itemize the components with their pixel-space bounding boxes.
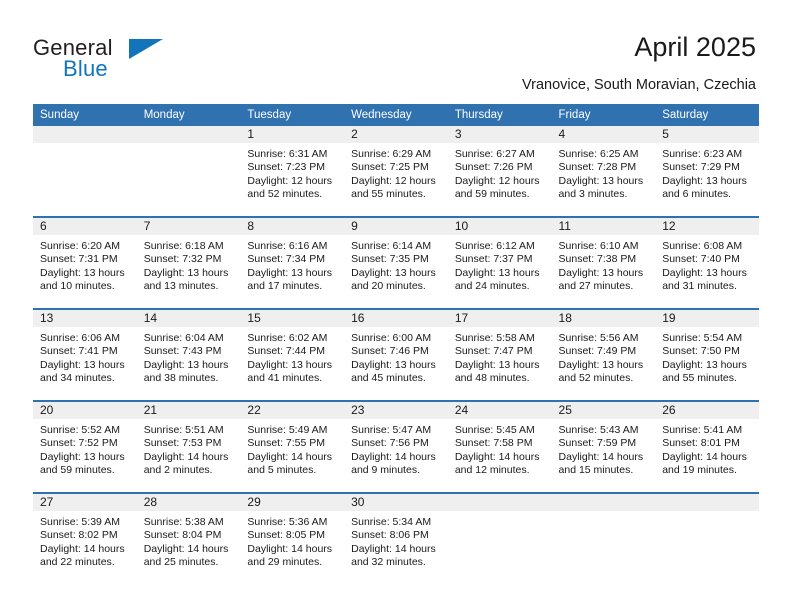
- day-detail-line: Sunset: 7:41 PM: [40, 345, 131, 358]
- day-detail-line: Sunrise: 6:31 AM: [247, 148, 338, 161]
- day-detail-text: [552, 511, 656, 516]
- day-number: 7: [137, 218, 241, 235]
- day-number: 2: [344, 126, 448, 143]
- calendar-day-cell[interactable]: 20Sunrise: 5:52 AMSunset: 7:52 PMDayligh…: [33, 401, 137, 493]
- day-detail-line: Sunrise: 6:18 AM: [144, 240, 235, 253]
- day-detail-line: Daylight: 13 hours: [559, 267, 650, 280]
- calendar-table: Sunday Monday Tuesday Wednesday Thursday…: [33, 104, 759, 584]
- day-detail-line: and 52 minutes.: [559, 372, 650, 385]
- day-detail-line: Sunrise: 5:47 AM: [351, 424, 442, 437]
- day-detail-line: Sunset: 7:26 PM: [455, 161, 546, 174]
- day-detail-text: Sunrise: 5:38 AMSunset: 8:04 PMDaylight:…: [137, 511, 241, 570]
- calendar-day-cell[interactable]: 18Sunrise: 5:56 AMSunset: 7:49 PMDayligh…: [552, 309, 656, 401]
- day-number: 5: [655, 126, 759, 143]
- calendar-day-cell[interactable]: 8Sunrise: 6:16 AMSunset: 7:34 PMDaylight…: [240, 217, 344, 309]
- day-detail-line: Daylight: 13 hours: [351, 359, 442, 372]
- day-detail-text: Sunrise: 5:36 AMSunset: 8:05 PMDaylight:…: [240, 511, 344, 570]
- calendar-day-cell[interactable]: 10Sunrise: 6:12 AMSunset: 7:37 PMDayligh…: [448, 217, 552, 309]
- day-detail-line: Daylight: 13 hours: [559, 359, 650, 372]
- day-detail-line: Daylight: 13 hours: [559, 175, 650, 188]
- logo-text-blue: Blue: [63, 56, 108, 82]
- calendar-day-cell[interactable]: 14Sunrise: 6:04 AMSunset: 7:43 PMDayligh…: [137, 309, 241, 401]
- day-detail-line: Daylight: 13 hours: [455, 267, 546, 280]
- day-detail-line: Sunrise: 6:29 AM: [351, 148, 442, 161]
- day-detail-line: Sunrise: 6:08 AM: [662, 240, 753, 253]
- day-detail-line: Daylight: 12 hours: [455, 175, 546, 188]
- dow-header-friday: Friday: [552, 104, 656, 126]
- day-detail-line: and 12 minutes.: [455, 464, 546, 477]
- day-number: 20: [33, 402, 137, 419]
- day-detail-line: and 48 minutes.: [455, 372, 546, 385]
- day-detail-line: Sunset: 7:23 PM: [247, 161, 338, 174]
- calendar-day-cell-empty: [655, 493, 759, 584]
- day-detail-line: Daylight: 12 hours: [247, 175, 338, 188]
- calendar-day-cell[interactable]: 12Sunrise: 6:08 AMSunset: 7:40 PMDayligh…: [655, 217, 759, 309]
- day-detail-line: and 31 minutes.: [662, 280, 753, 293]
- day-detail-line: Daylight: 14 hours: [351, 543, 442, 556]
- day-detail-line: Daylight: 14 hours: [559, 451, 650, 464]
- day-detail-text: Sunrise: 5:39 AMSunset: 8:02 PMDaylight:…: [33, 511, 137, 570]
- day-detail-line: Sunrise: 5:41 AM: [662, 424, 753, 437]
- day-detail-line: Sunset: 7:28 PM: [559, 161, 650, 174]
- calendar-day-cell[interactable]: 3Sunrise: 6:27 AMSunset: 7:26 PMDaylight…: [448, 126, 552, 217]
- day-detail-text: Sunrise: 5:58 AMSunset: 7:47 PMDaylight:…: [448, 327, 552, 386]
- day-detail-text: [137, 143, 241, 148]
- day-detail-line: Sunrise: 6:04 AM: [144, 332, 235, 345]
- calendar-grid: Sunday Monday Tuesday Wednesday Thursday…: [33, 104, 759, 584]
- day-detail-line: Sunset: 7:58 PM: [455, 437, 546, 450]
- calendar-day-cell[interactable]: 6Sunrise: 6:20 AMSunset: 7:31 PMDaylight…: [33, 217, 137, 309]
- calendar-body: 1Sunrise: 6:31 AMSunset: 7:23 PMDaylight…: [33, 126, 759, 584]
- day-detail-line: Sunrise: 6:16 AM: [247, 240, 338, 253]
- day-number: [552, 494, 656, 511]
- day-detail-line: Sunrise: 5:52 AM: [40, 424, 131, 437]
- day-detail-line: Sunrise: 6:20 AM: [40, 240, 131, 253]
- day-detail-text: Sunrise: 6:08 AMSunset: 7:40 PMDaylight:…: [655, 235, 759, 294]
- day-detail-line: and 32 minutes.: [351, 556, 442, 569]
- day-detail-text: [655, 511, 759, 516]
- day-detail-text: Sunrise: 6:06 AMSunset: 7:41 PMDaylight:…: [33, 327, 137, 386]
- dow-header-sunday: Sunday: [33, 104, 137, 126]
- day-number: 14: [137, 310, 241, 327]
- day-detail-text: Sunrise: 6:14 AMSunset: 7:35 PMDaylight:…: [344, 235, 448, 294]
- day-detail-line: Daylight: 13 hours: [144, 267, 235, 280]
- calendar-page: General Blue April 2025 Vranovice, South…: [0, 0, 792, 612]
- page-header: General Blue April 2025 Vranovice, South…: [0, 0, 792, 100]
- calendar-week-row: 6Sunrise: 6:20 AMSunset: 7:31 PMDaylight…: [33, 217, 759, 309]
- day-detail-line: Sunset: 7:55 PM: [247, 437, 338, 450]
- calendar-day-cell[interactable]: 28Sunrise: 5:38 AMSunset: 8:04 PMDayligh…: [137, 493, 241, 584]
- day-detail-line: Sunset: 7:44 PM: [247, 345, 338, 358]
- calendar-day-cell[interactable]: 22Sunrise: 5:49 AMSunset: 7:55 PMDayligh…: [240, 401, 344, 493]
- day-number: 18: [552, 310, 656, 327]
- day-detail-line: Sunrise: 6:00 AM: [351, 332, 442, 345]
- day-detail-text: Sunrise: 5:54 AMSunset: 7:50 PMDaylight:…: [655, 327, 759, 386]
- calendar-day-cell[interactable]: 17Sunrise: 5:58 AMSunset: 7:47 PMDayligh…: [448, 309, 552, 401]
- day-number: 17: [448, 310, 552, 327]
- day-detail-line: and 5 minutes.: [247, 464, 338, 477]
- day-detail-line: Sunrise: 5:49 AM: [247, 424, 338, 437]
- day-detail-line: Sunset: 7:32 PM: [144, 253, 235, 266]
- day-detail-text: Sunrise: 5:41 AMSunset: 8:01 PMDaylight:…: [655, 419, 759, 478]
- day-detail-text: Sunrise: 5:49 AMSunset: 7:55 PMDaylight:…: [240, 419, 344, 478]
- day-detail-line: and 2 minutes.: [144, 464, 235, 477]
- day-detail-line: and 20 minutes.: [351, 280, 442, 293]
- day-detail-text: Sunrise: 6:20 AMSunset: 7:31 PMDaylight:…: [33, 235, 137, 294]
- day-detail-line: Sunrise: 6:25 AM: [559, 148, 650, 161]
- day-detail-line: Daylight: 13 hours: [247, 267, 338, 280]
- day-detail-text: [33, 143, 137, 148]
- day-detail-line: Sunset: 7:49 PM: [559, 345, 650, 358]
- day-number: 12: [655, 218, 759, 235]
- day-detail-line: Sunset: 7:46 PM: [351, 345, 442, 358]
- day-detail-line: Daylight: 13 hours: [247, 359, 338, 372]
- day-detail-line: Sunset: 7:59 PM: [559, 437, 650, 450]
- day-number: 4: [552, 126, 656, 143]
- day-detail-line: Sunset: 7:53 PM: [144, 437, 235, 450]
- page-title: April 2025: [634, 32, 756, 63]
- day-detail-text: [448, 511, 552, 516]
- calendar-day-cell[interactable]: 5Sunrise: 6:23 AMSunset: 7:29 PMDaylight…: [655, 126, 759, 217]
- day-number: 9: [344, 218, 448, 235]
- day-detail-line: Sunset: 7:25 PM: [351, 161, 442, 174]
- day-detail-line: Sunrise: 5:58 AM: [455, 332, 546, 345]
- day-detail-line: Sunset: 8:05 PM: [247, 529, 338, 542]
- calendar-day-cell[interactable]: 24Sunrise: 5:45 AMSunset: 7:58 PMDayligh…: [448, 401, 552, 493]
- calendar-day-cell[interactable]: 19Sunrise: 5:54 AMSunset: 7:50 PMDayligh…: [655, 309, 759, 401]
- day-detail-line: and 9 minutes.: [351, 464, 442, 477]
- dow-header-wednesday: Wednesday: [344, 104, 448, 126]
- day-detail-line: and 24 minutes.: [455, 280, 546, 293]
- general-blue-logo[interactable]: General Blue: [33, 35, 213, 83]
- day-number: 13: [33, 310, 137, 327]
- day-number: [33, 126, 137, 143]
- day-number: [448, 494, 552, 511]
- day-detail-text: Sunrise: 6:00 AMSunset: 7:46 PMDaylight:…: [344, 327, 448, 386]
- day-detail-line: Sunrise: 5:43 AM: [559, 424, 650, 437]
- day-detail-line: and 59 minutes.: [455, 188, 546, 201]
- day-number: 16: [344, 310, 448, 327]
- day-detail-line: Sunrise: 5:45 AM: [455, 424, 546, 437]
- calendar-day-cell[interactable]: 23Sunrise: 5:47 AMSunset: 7:56 PMDayligh…: [344, 401, 448, 493]
- triangle-flag-icon: [129, 39, 163, 59]
- day-number: 27: [33, 494, 137, 511]
- dow-header-thursday: Thursday: [448, 104, 552, 126]
- day-detail-line: Sunset: 8:01 PM: [662, 437, 753, 450]
- day-number: 25: [552, 402, 656, 419]
- day-detail-text: Sunrise: 6:23 AMSunset: 7:29 PMDaylight:…: [655, 143, 759, 202]
- day-detail-line: and 55 minutes.: [351, 188, 442, 201]
- day-number: 10: [448, 218, 552, 235]
- day-detail-line: Sunrise: 6:02 AM: [247, 332, 338, 345]
- day-detail-line: Sunrise: 6:06 AM: [40, 332, 131, 345]
- day-detail-line: Daylight: 13 hours: [40, 359, 131, 372]
- calendar-day-cell[interactable]: 30Sunrise: 5:34 AMSunset: 8:06 PMDayligh…: [344, 493, 448, 584]
- day-detail-text: Sunrise: 6:10 AMSunset: 7:38 PMDaylight:…: [552, 235, 656, 294]
- day-detail-line: and 52 minutes.: [247, 188, 338, 201]
- calendar-day-cell[interactable]: 26Sunrise: 5:41 AMSunset: 8:01 PMDayligh…: [655, 401, 759, 493]
- day-detail-line: Daylight: 14 hours: [144, 543, 235, 556]
- day-detail-line: Daylight: 14 hours: [351, 451, 442, 464]
- day-detail-text: Sunrise: 5:45 AMSunset: 7:58 PMDaylight:…: [448, 419, 552, 478]
- day-number: 11: [552, 218, 656, 235]
- calendar-day-cell[interactable]: 2Sunrise: 6:29 AMSunset: 7:25 PMDaylight…: [344, 126, 448, 217]
- day-detail-line: Daylight: 14 hours: [662, 451, 753, 464]
- day-detail-line: and 17 minutes.: [247, 280, 338, 293]
- day-detail-line: Sunrise: 5:39 AM: [40, 516, 131, 529]
- day-detail-line: Sunrise: 5:34 AM: [351, 516, 442, 529]
- day-number: 30: [344, 494, 448, 511]
- day-detail-line: Daylight: 13 hours: [351, 267, 442, 280]
- day-detail-text: Sunrise: 6:27 AMSunset: 7:26 PMDaylight:…: [448, 143, 552, 202]
- calendar-day-cell[interactable]: 13Sunrise: 6:06 AMSunset: 7:41 PMDayligh…: [33, 309, 137, 401]
- calendar-day-cell[interactable]: 7Sunrise: 6:18 AMSunset: 7:32 PMDaylight…: [137, 217, 241, 309]
- day-number: 24: [448, 402, 552, 419]
- day-detail-line: and 59 minutes.: [40, 464, 131, 477]
- dow-header-tuesday: Tuesday: [240, 104, 344, 126]
- day-detail-text: Sunrise: 5:52 AMSunset: 7:52 PMDaylight:…: [33, 419, 137, 478]
- day-detail-line: Daylight: 13 hours: [662, 359, 753, 372]
- page-subtitle-location: Vranovice, South Moravian, Czechia: [522, 77, 756, 93]
- day-detail-line: Sunset: 7:29 PM: [662, 161, 753, 174]
- day-number: 22: [240, 402, 344, 419]
- day-detail-line: and 15 minutes.: [559, 464, 650, 477]
- day-detail-line: Daylight: 14 hours: [455, 451, 546, 464]
- calendar-day-cell[interactable]: 25Sunrise: 5:43 AMSunset: 7:59 PMDayligh…: [552, 401, 656, 493]
- calendar-day-cell-empty: [137, 126, 241, 217]
- day-detail-line: Sunrise: 5:56 AM: [559, 332, 650, 345]
- day-detail-line: and 45 minutes.: [351, 372, 442, 385]
- day-detail-line: Daylight: 12 hours: [351, 175, 442, 188]
- day-detail-line: and 22 minutes.: [40, 556, 131, 569]
- day-detail-line: and 34 minutes.: [40, 372, 131, 385]
- day-detail-text: Sunrise: 5:43 AMSunset: 7:59 PMDaylight:…: [552, 419, 656, 478]
- day-detail-line: Daylight: 13 hours: [662, 267, 753, 280]
- calendar-day-cell[interactable]: 29Sunrise: 5:36 AMSunset: 8:05 PMDayligh…: [240, 493, 344, 584]
- day-number: 1: [240, 126, 344, 143]
- day-detail-line: and 55 minutes.: [662, 372, 753, 385]
- day-detail-text: Sunrise: 6:18 AMSunset: 7:32 PMDaylight:…: [137, 235, 241, 294]
- calendar-day-cell[interactable]: 9Sunrise: 6:14 AMSunset: 7:35 PMDaylight…: [344, 217, 448, 309]
- day-detail-text: Sunrise: 6:02 AMSunset: 7:44 PMDaylight:…: [240, 327, 344, 386]
- day-detail-line: and 25 minutes.: [144, 556, 235, 569]
- calendar-day-cell[interactable]: 15Sunrise: 6:02 AMSunset: 7:44 PMDayligh…: [240, 309, 344, 401]
- day-detail-line: and 6 minutes.: [662, 188, 753, 201]
- day-detail-line: Daylight: 13 hours: [662, 175, 753, 188]
- day-detail-text: Sunrise: 5:51 AMSunset: 7:53 PMDaylight:…: [137, 419, 241, 478]
- day-detail-line: Daylight: 14 hours: [247, 451, 338, 464]
- dow-header-saturday: Saturday: [655, 104, 759, 126]
- day-detail-line: Sunset: 7:47 PM: [455, 345, 546, 358]
- day-number: 26: [655, 402, 759, 419]
- day-detail-line: Daylight: 14 hours: [144, 451, 235, 464]
- calendar-day-cell-empty: [448, 493, 552, 584]
- day-detail-line: and 3 minutes.: [559, 188, 650, 201]
- calendar-day-cell[interactable]: 16Sunrise: 6:00 AMSunset: 7:46 PMDayligh…: [344, 309, 448, 401]
- day-detail-text: Sunrise: 5:56 AMSunset: 7:49 PMDaylight:…: [552, 327, 656, 386]
- day-detail-text: Sunrise: 6:31 AMSunset: 7:23 PMDaylight:…: [240, 143, 344, 202]
- day-detail-line: Sunrise: 5:36 AM: [247, 516, 338, 529]
- day-detail-text: Sunrise: 6:16 AMSunset: 7:34 PMDaylight:…: [240, 235, 344, 294]
- day-detail-line: Sunset: 8:04 PM: [144, 529, 235, 542]
- day-number: 3: [448, 126, 552, 143]
- calendar-head: Sunday Monday Tuesday Wednesday Thursday…: [33, 104, 759, 126]
- day-detail-line: Daylight: 13 hours: [40, 451, 131, 464]
- day-number: 6: [33, 218, 137, 235]
- day-detail-line: Sunset: 8:02 PM: [40, 529, 131, 542]
- day-detail-line: Sunrise: 5:54 AM: [662, 332, 753, 345]
- calendar-week-row: 13Sunrise: 6:06 AMSunset: 7:41 PMDayligh…: [33, 309, 759, 401]
- day-detail-line: Sunset: 7:52 PM: [40, 437, 131, 450]
- day-detail-line: and 38 minutes.: [144, 372, 235, 385]
- calendar-day-cell[interactable]: 4Sunrise: 6:25 AMSunset: 7:28 PMDaylight…: [552, 126, 656, 217]
- calendar-day-cell-empty: [552, 493, 656, 584]
- day-number: 15: [240, 310, 344, 327]
- day-detail-line: Daylight: 13 hours: [144, 359, 235, 372]
- calendar-week-row: 1Sunrise: 6:31 AMSunset: 7:23 PMDaylight…: [33, 126, 759, 217]
- calendar-day-cell[interactable]: 11Sunrise: 6:10 AMSunset: 7:38 PMDayligh…: [552, 217, 656, 309]
- day-number: 19: [655, 310, 759, 327]
- day-number: [137, 126, 241, 143]
- day-detail-line: Sunset: 8:06 PM: [351, 529, 442, 542]
- day-detail-line: Sunset: 7:35 PM: [351, 253, 442, 266]
- day-detail-line: Sunset: 7:56 PM: [351, 437, 442, 450]
- day-number: 8: [240, 218, 344, 235]
- day-number: 21: [137, 402, 241, 419]
- calendar-day-cell[interactable]: 1Sunrise: 6:31 AMSunset: 7:23 PMDaylight…: [240, 126, 344, 217]
- day-detail-text: Sunrise: 5:47 AMSunset: 7:56 PMDaylight:…: [344, 419, 448, 478]
- day-detail-line: Sunset: 7:37 PM: [455, 253, 546, 266]
- dow-header-monday: Monday: [137, 104, 241, 126]
- calendar-day-cell-empty: [33, 126, 137, 217]
- day-detail-line: Sunrise: 5:51 AM: [144, 424, 235, 437]
- day-detail-line: Daylight: 14 hours: [40, 543, 131, 556]
- day-detail-line: and 27 minutes.: [559, 280, 650, 293]
- day-detail-line: Sunset: 7:31 PM: [40, 253, 131, 266]
- day-detail-line: and 29 minutes.: [247, 556, 338, 569]
- day-detail-line: Sunrise: 6:27 AM: [455, 148, 546, 161]
- day-detail-text: Sunrise: 6:29 AMSunset: 7:25 PMDaylight:…: [344, 143, 448, 202]
- calendar-week-row: 20Sunrise: 5:52 AMSunset: 7:52 PMDayligh…: [33, 401, 759, 493]
- day-detail-line: Sunrise: 6:14 AM: [351, 240, 442, 253]
- day-detail-line: Sunrise: 5:38 AM: [144, 516, 235, 529]
- day-detail-line: Sunset: 7:50 PM: [662, 345, 753, 358]
- day-number: 28: [137, 494, 241, 511]
- day-detail-text: Sunrise: 6:12 AMSunset: 7:37 PMDaylight:…: [448, 235, 552, 294]
- day-detail-line: and 13 minutes.: [144, 280, 235, 293]
- day-detail-text: Sunrise: 6:25 AMSunset: 7:28 PMDaylight:…: [552, 143, 656, 202]
- day-detail-line: Daylight: 13 hours: [455, 359, 546, 372]
- calendar-week-row: 27Sunrise: 5:39 AMSunset: 8:02 PMDayligh…: [33, 493, 759, 584]
- day-detail-line: Sunset: 7:34 PM: [247, 253, 338, 266]
- day-detail-line: Sunrise: 6:10 AM: [559, 240, 650, 253]
- day-detail-line: and 10 minutes.: [40, 280, 131, 293]
- calendar-day-cell[interactable]: 27Sunrise: 5:39 AMSunset: 8:02 PMDayligh…: [33, 493, 137, 584]
- day-number: [655, 494, 759, 511]
- day-detail-text: Sunrise: 6:04 AMSunset: 7:43 PMDaylight:…: [137, 327, 241, 386]
- day-detail-line: Daylight: 14 hours: [247, 543, 338, 556]
- day-detail-text: Sunrise: 5:34 AMSunset: 8:06 PMDaylight:…: [344, 511, 448, 570]
- day-detail-line: Sunset: 7:40 PM: [662, 253, 753, 266]
- day-detail-line: Sunrise: 6:23 AM: [662, 148, 753, 161]
- calendar-day-cell[interactable]: 21Sunrise: 5:51 AMSunset: 7:53 PMDayligh…: [137, 401, 241, 493]
- day-detail-line: Sunset: 7:43 PM: [144, 345, 235, 358]
- day-number: 23: [344, 402, 448, 419]
- day-detail-line: Sunrise: 6:12 AM: [455, 240, 546, 253]
- day-number: 29: [240, 494, 344, 511]
- day-detail-line: Sunset: 7:38 PM: [559, 253, 650, 266]
- day-of-week-header-row: Sunday Monday Tuesday Wednesday Thursday…: [33, 104, 759, 126]
- day-detail-line: and 19 minutes.: [662, 464, 753, 477]
- day-detail-line: Daylight: 13 hours: [40, 267, 131, 280]
- day-detail-line: and 41 minutes.: [247, 372, 338, 385]
